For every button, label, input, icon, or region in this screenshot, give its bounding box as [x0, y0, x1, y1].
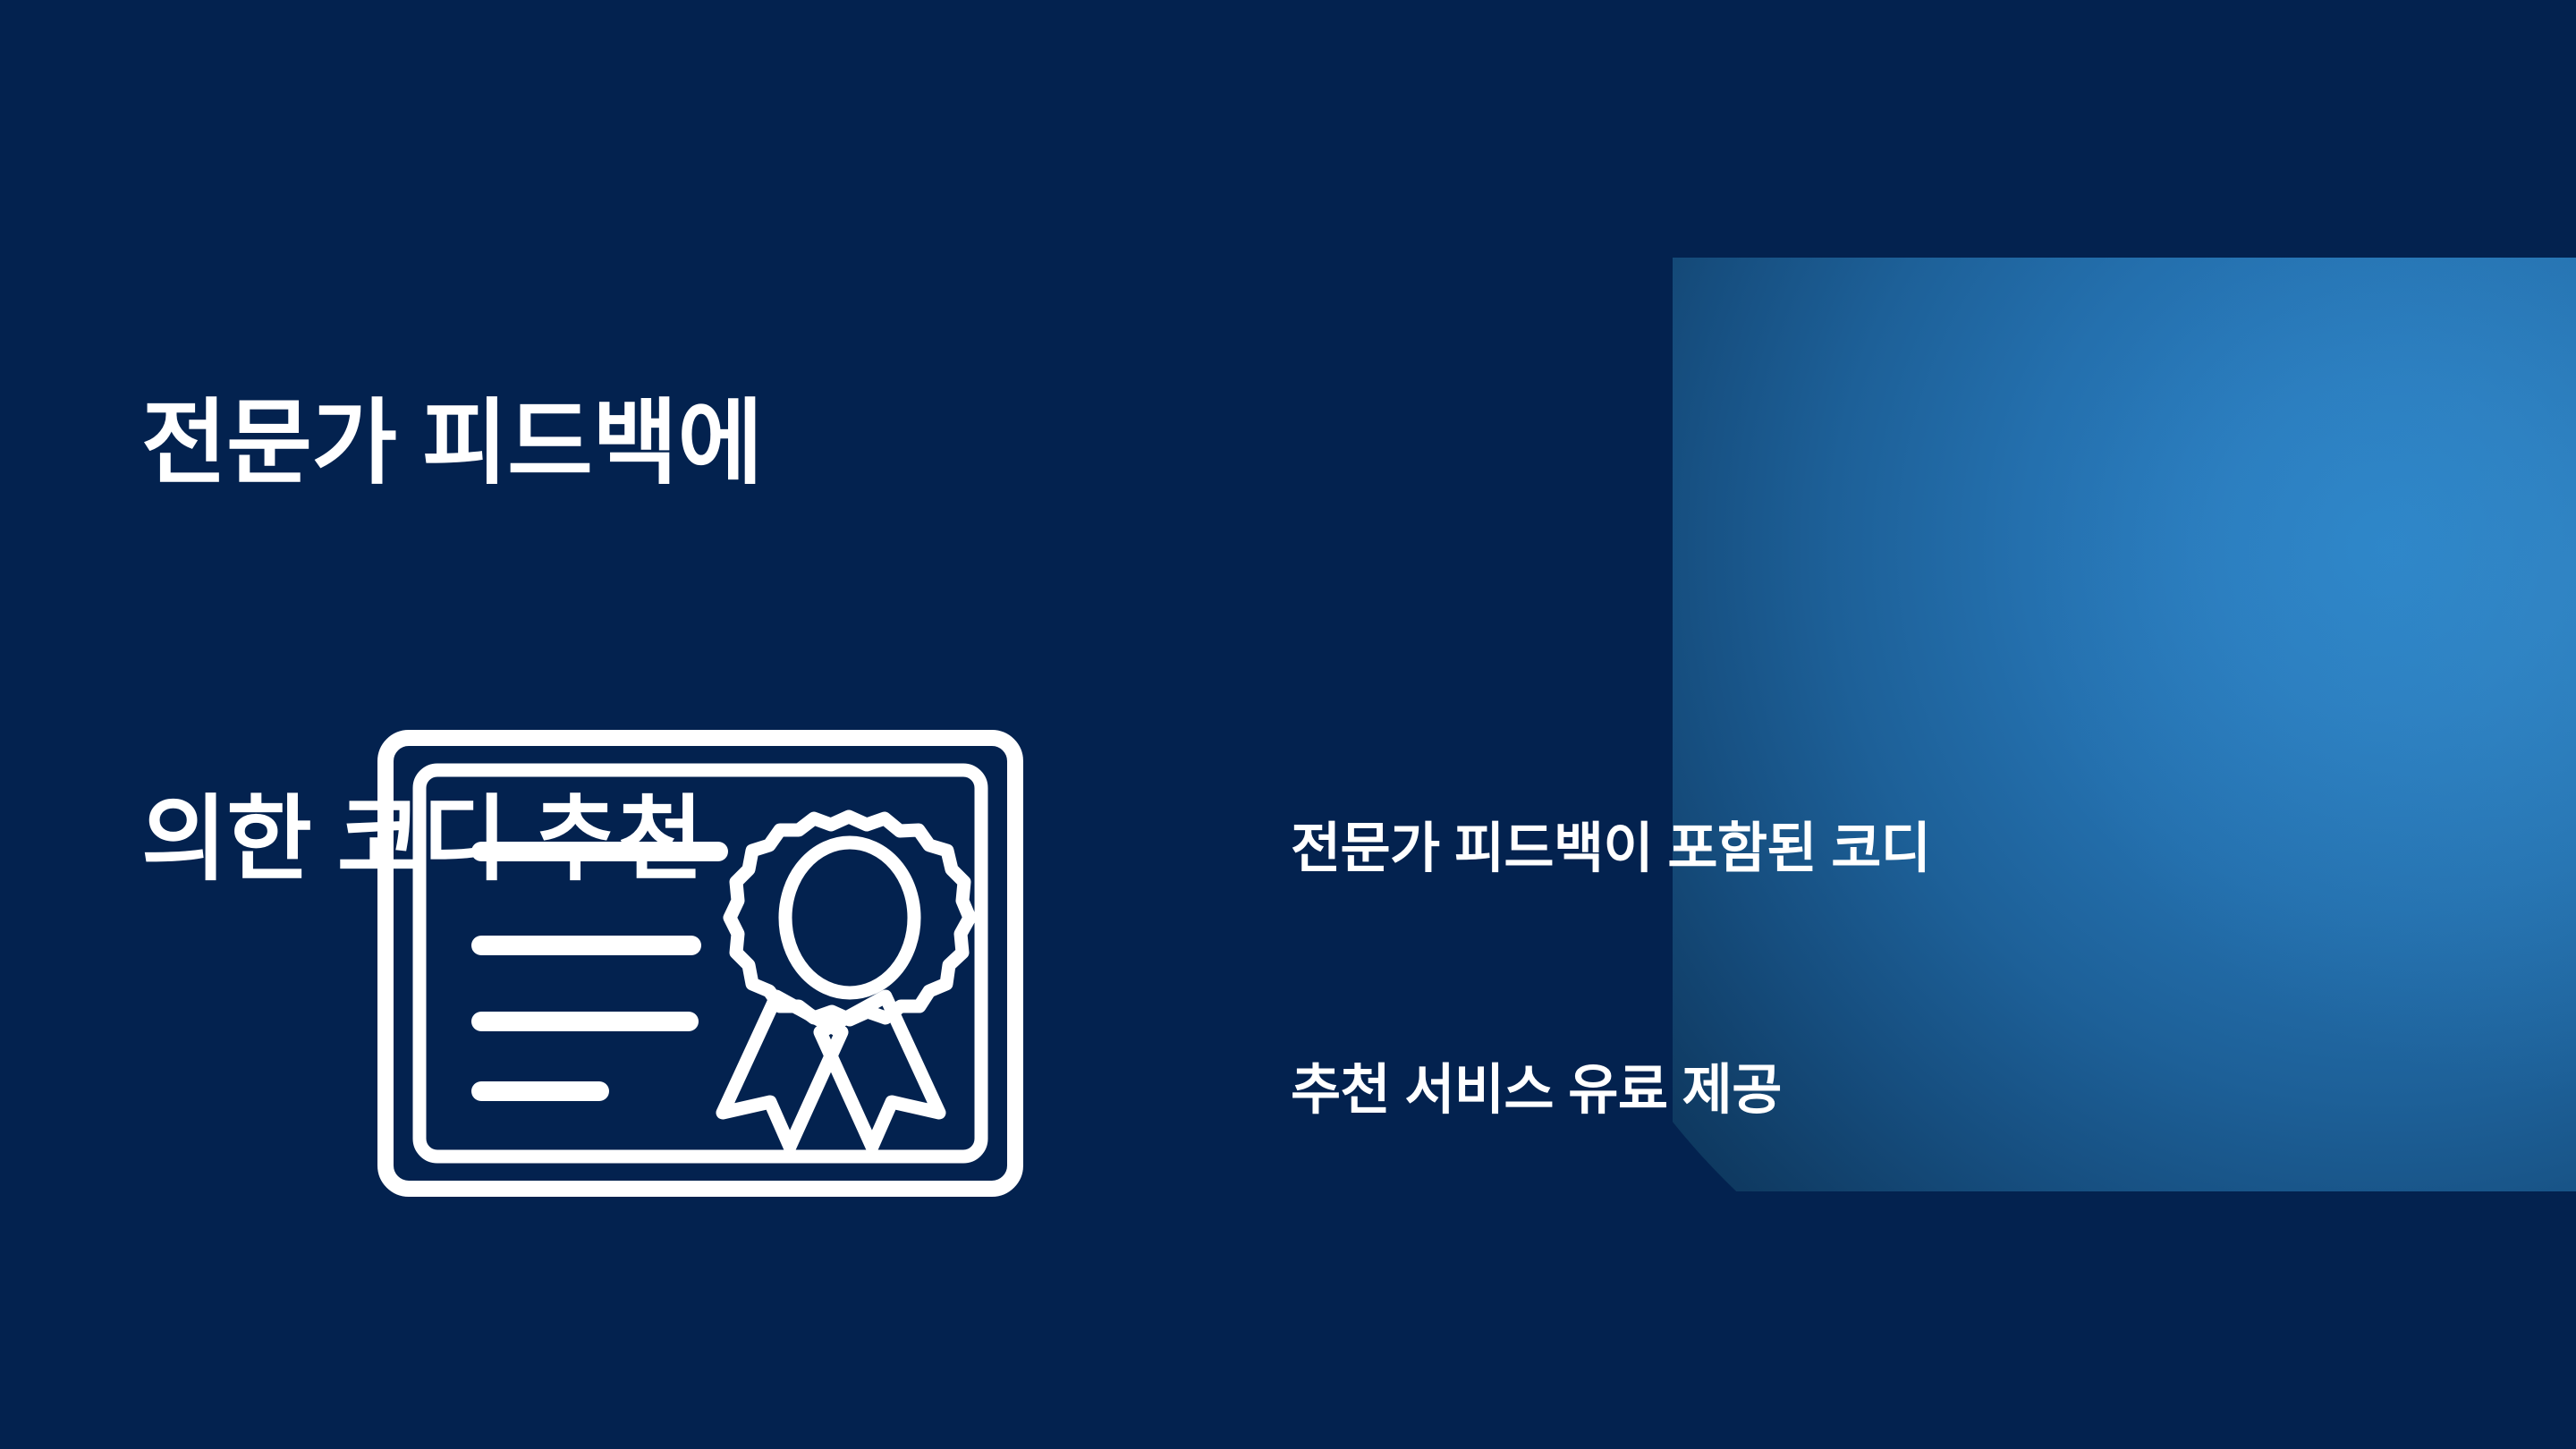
certificate-award-icon [374, 726, 1027, 1200]
section-body-text: 의류 업계 전문가, 패션 인플루언서, 퍼스널컬러 컨설 턴트, 체형 컨설턴… [1291, 1292, 2445, 1449]
section-heading: 전문가 피드백이 포함된 코디 추천 서비스 유료 제공 [1291, 646, 2445, 1292]
section-heading-line-1: 전문가 피드백이 포함된 코디 [1291, 808, 2445, 888]
award-medal-center [785, 843, 914, 993]
right-content-column: 전문가 피드백이 포함된 코디 추천 서비스 유료 제공 의류 업계 전문가, … [1291, 646, 2445, 1449]
page-title-line-1: 전문가 피드백에 [141, 378, 1322, 511]
section-heading-line-2: 추천 서비스 유료 제공 [1291, 1049, 2445, 1130]
slide-root: 전문가 피드백에 의한 코디 추천 전문가 피드백이 포함된 코디 추 [0, 0, 2576, 1449]
certificate-outer-frame [386, 738, 1015, 1189]
